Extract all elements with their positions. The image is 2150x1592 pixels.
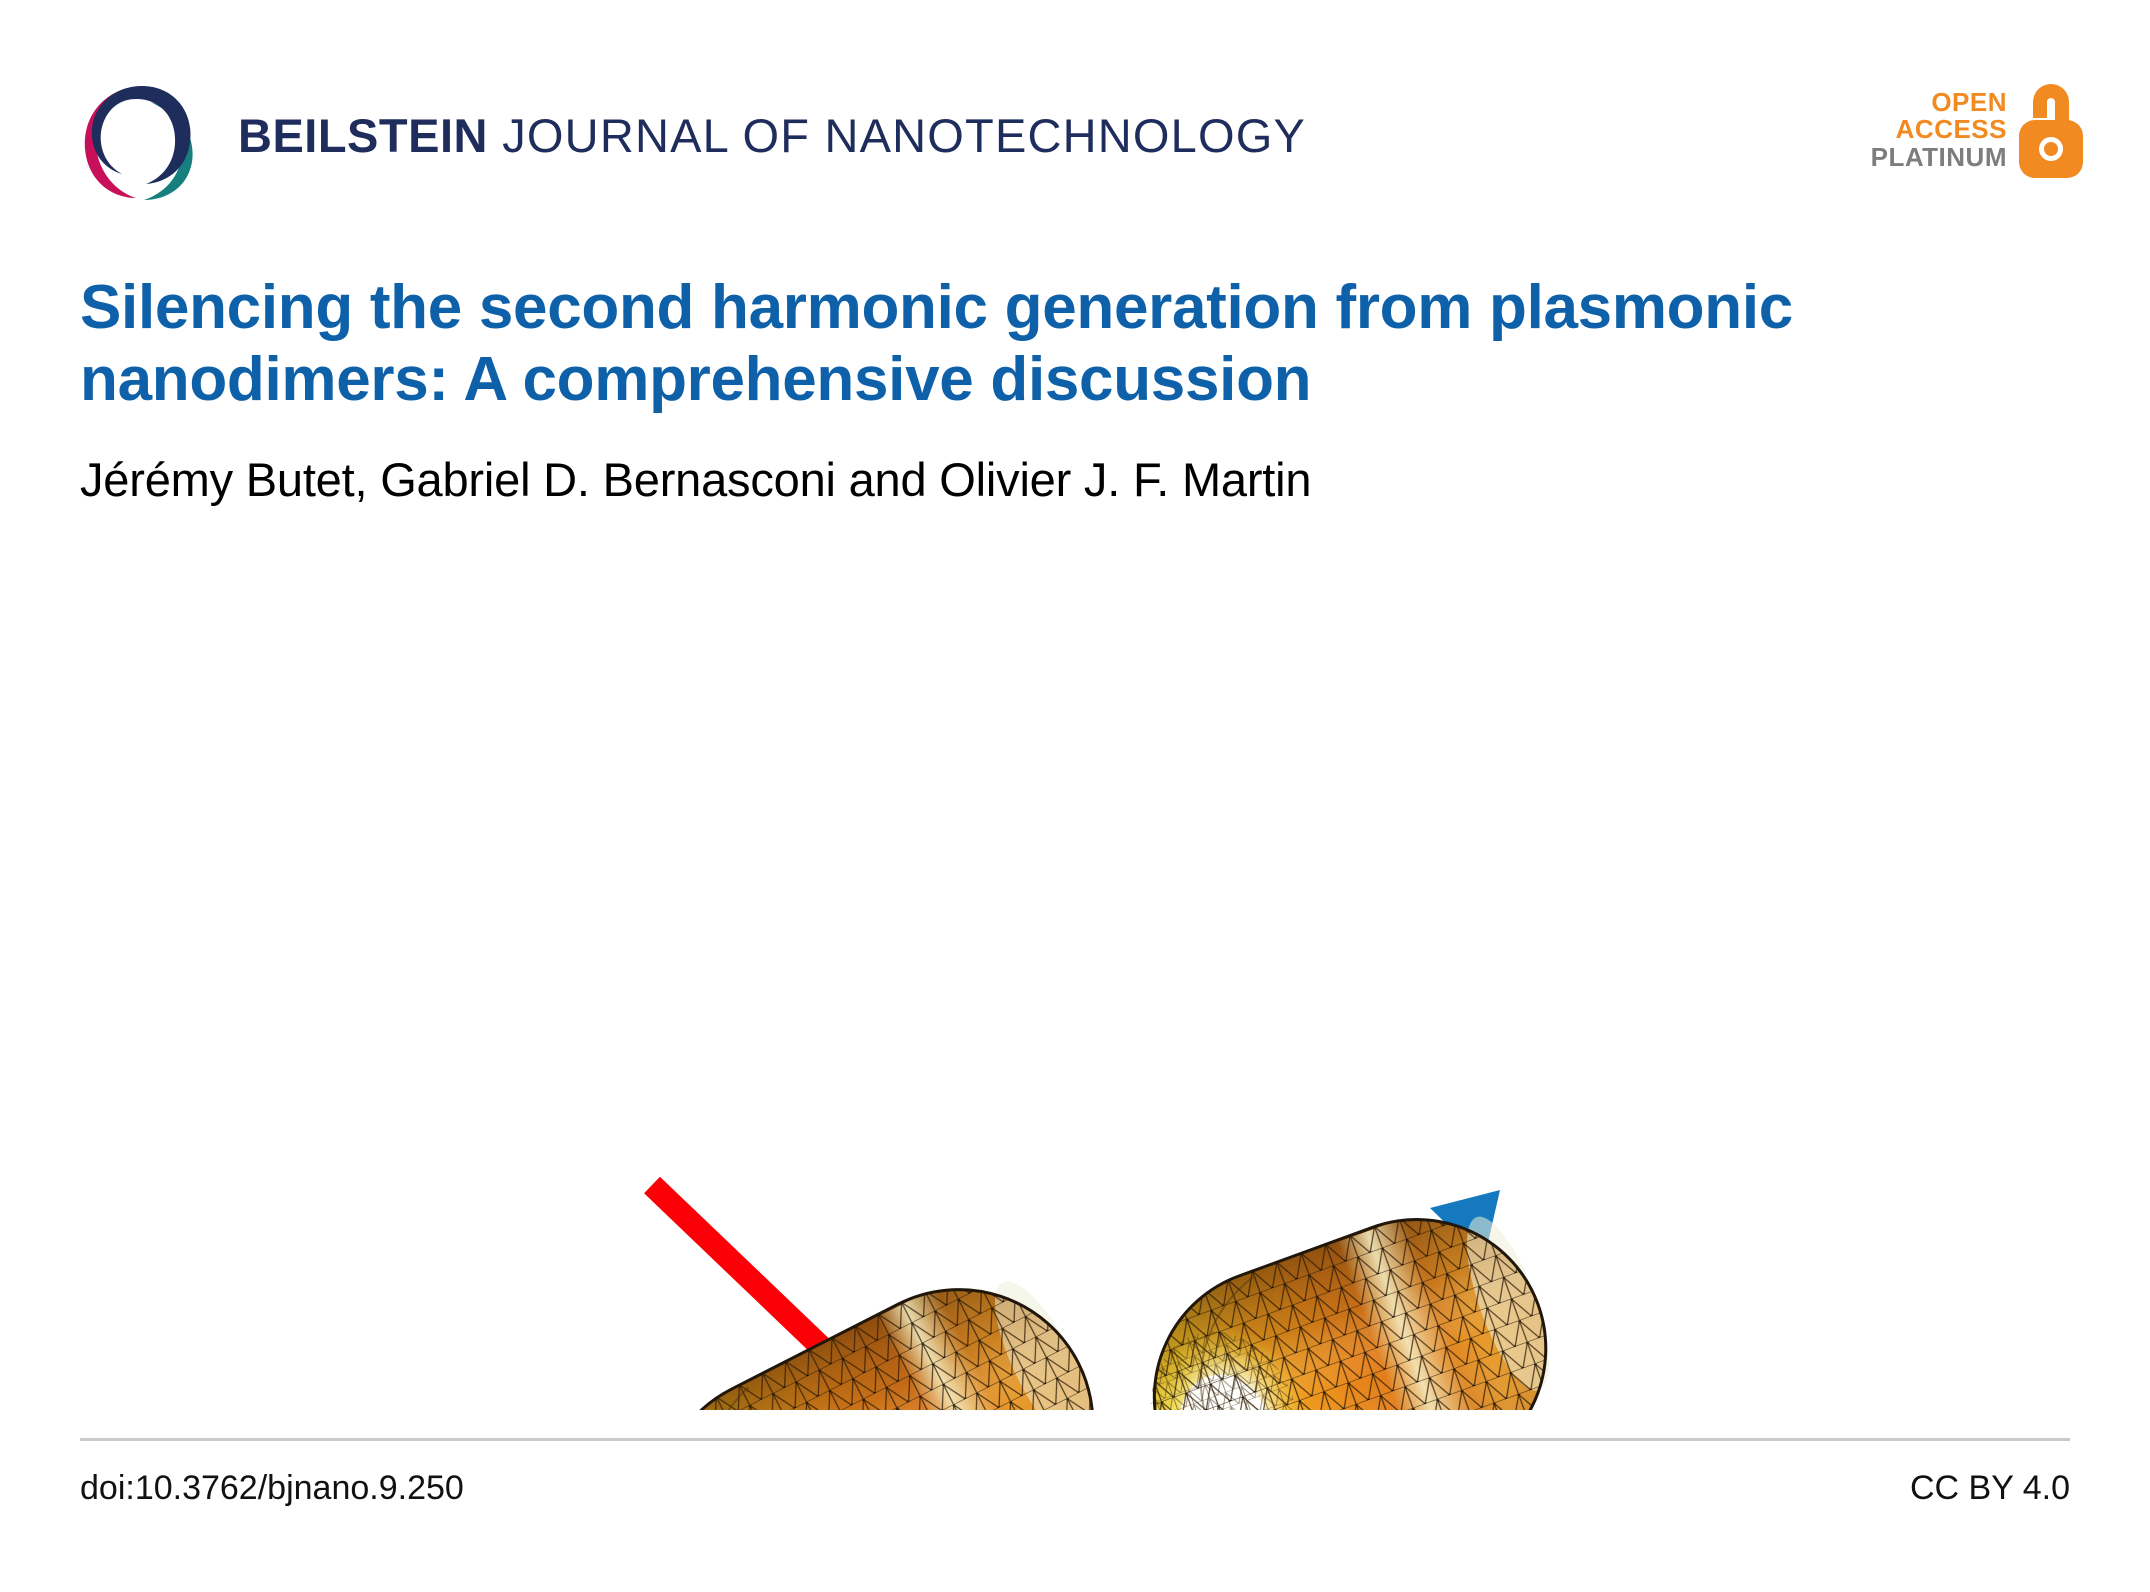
page-header: BEILSTEIN JOURNAL OF NANOTECHNOLOGY OPEN… xyxy=(0,0,2150,240)
open-access-line-platinum: PLATINUM xyxy=(1871,144,2007,172)
journal-subtitle-words: JOURNAL OF NANOTECHNOLOGY xyxy=(488,109,1306,162)
license-text: CC BY 4.0 xyxy=(1910,1469,2070,1508)
beilstein-spiral-logo xyxy=(76,78,202,204)
nanorod-right xyxy=(1112,1183,1582,1410)
author-list: Jérémy Butet, Gabriel D. Bernasconi and … xyxy=(80,452,2040,507)
journal-title-wordmark: BEILSTEIN JOURNAL OF NANOTECHNOLOGY xyxy=(238,108,1306,163)
open-lock-icon xyxy=(2015,76,2087,185)
page-title: Silencing the second harmonic generation… xyxy=(80,272,1980,416)
open-access-badge: OPEN ACCESS PLATINUM xyxy=(1871,76,2087,184)
title-block: Silencing the second harmonic generation… xyxy=(80,272,2040,507)
journal-brand-word: BEILSTEIN xyxy=(238,109,488,162)
open-access-labels: OPEN ACCESS PLATINUM xyxy=(1871,89,2007,172)
open-access-line-access: ACCESS xyxy=(1871,116,2007,144)
graphical-abstract-figure xyxy=(0,560,2150,1410)
page-footer: doi:10.3762/bjnano.9.250 CC BY 4.0 xyxy=(80,1438,2070,1548)
nanorod-left xyxy=(607,1243,1139,1410)
footer-divider xyxy=(80,1438,2070,1441)
open-access-line-open: OPEN xyxy=(1871,89,2007,117)
doi-text: doi:10.3762/bjnano.9.250 xyxy=(80,1469,464,1508)
